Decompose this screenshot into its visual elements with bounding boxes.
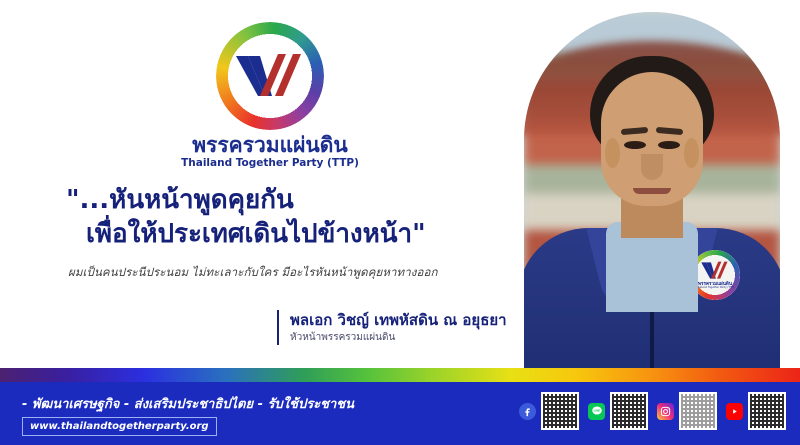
portrait-head [590,56,714,212]
badge-name-english: Thailand Together Party (TTP) [696,287,734,290]
badge-w-monogram-icon [700,260,730,281]
portrait-nose [641,154,663,180]
portrait-mouth [633,188,671,194]
portrait-eye-right [658,141,680,149]
facebook-qr-code[interactable] [541,392,579,430]
rainbow-divider-bar [0,368,800,382]
speaker-block: พลเอก วิชญ์ เทพหัสดิน ณ อยุธยา หัวหน้าพร… [277,310,507,345]
line-qr-code[interactable] [610,392,648,430]
youtube-qr-code[interactable] [748,392,786,430]
portrait-brow-right [656,127,683,135]
youtube-icon[interactable] [726,403,743,420]
party-logo-block: พรรครวมแผ่นดิน Thailand Together Party (… [175,22,365,171]
portrait-face [601,72,703,206]
portrait-ear-left [605,138,620,168]
social-pair-facebook[interactable] [519,392,579,430]
badge-inner: พรรครวมแผ่นดิน Thailand Together Party (… [696,260,734,290]
party-name-english: Thailand Together Party (TTP) [175,157,365,171]
speaker-text: พลเอก วิชญ์ เทพหัสดิน ณ อยุธยา หัวหน้าพร… [290,310,507,345]
campaign-poster: พรรครวมแผ่นดิน Thailand Together Party (… [0,0,800,445]
quote-line-1: "...หันหน้าพูดคุยกัน [66,183,506,217]
quote-subtitle: ผมเป็นคนประนีประนอม ไม่ทะเลาะกับใคร มีอะ… [66,264,506,282]
quote-block: "...หันหน้าพูดคุยกัน เพื่อให้ประเทศเดินไ… [66,183,506,282]
footer-bar: - พัฒนาเศรษฐกิจ - ส่งเสริมประชาธิปไตย - … [0,382,800,445]
speaker-role: หัวหน้าพรรครวมแผ่นดิน [290,330,507,345]
portrait-ear-right [684,138,699,168]
footer-slogan: - พัฒนาเศรษฐกิจ - ส่งเสริมประชาธิปไตย - … [22,393,354,414]
social-pair-line[interactable]: LINE [588,392,648,430]
svg-text:LINE: LINE [593,409,600,413]
party-name-thai: พรรครวมแผ่นดิน [175,134,365,157]
portrait-brow-left [621,127,648,135]
speaker-name: พลเอก วิชญ์ เทพหัสดิน ณ อยุธยา [290,310,507,330]
portrait-eye-left [624,141,646,149]
instagram-qr-code[interactable] [679,392,717,430]
social-pair-instagram[interactable] [657,392,717,430]
instagram-icon[interactable] [657,403,674,420]
social-links-group: LINE [519,392,786,430]
w-monogram-icon [234,50,306,102]
party-logo-mark [216,22,324,130]
quote-line-2: เพื่อให้ประเทศเดินไปข้างหน้า" [66,217,506,251]
speaker-divider [277,310,279,345]
facebook-icon[interactable] [519,403,536,420]
social-pair-youtube[interactable] [726,392,786,430]
line-icon[interactable]: LINE [588,403,605,420]
footer-website-url[interactable]: www.thailandtogetherparty.org [22,417,217,436]
leader-portrait-photo: พรรครวมแผ่นดิน Thailand Together Party (… [524,12,780,375]
